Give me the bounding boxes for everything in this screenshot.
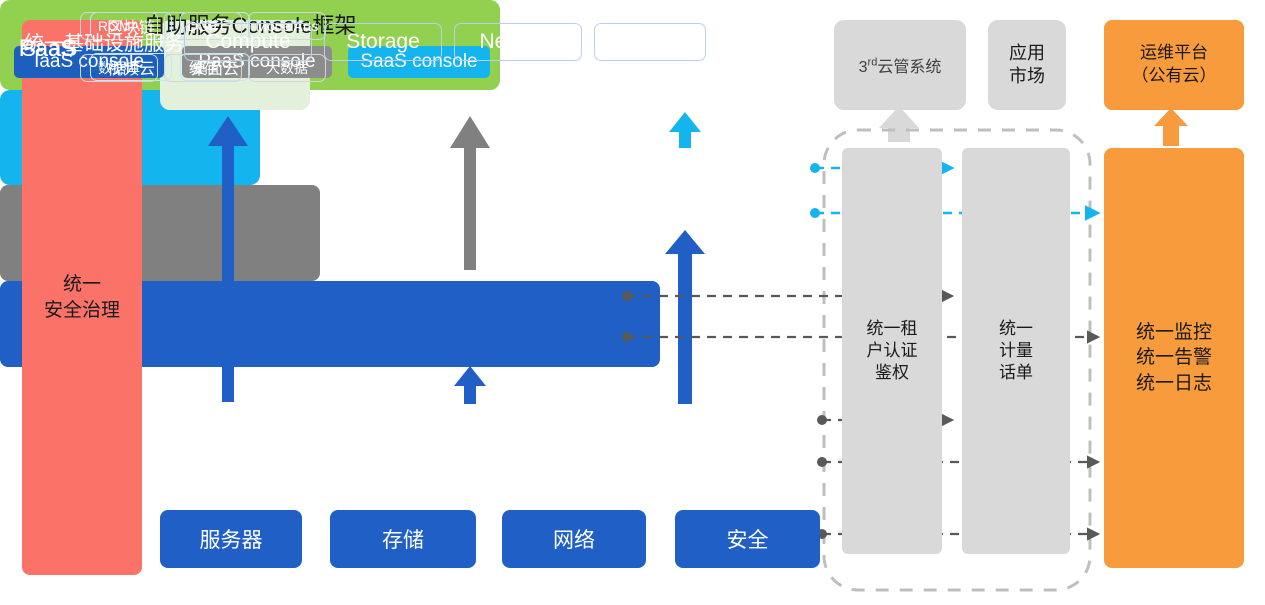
- infra-service-compute[interactable]: Compute: [184, 23, 312, 61]
- arrow-paas-to-console: [450, 116, 490, 270]
- third-party-cloud-mgmt-box: 3rd云管系统: [834, 20, 966, 110]
- infra-service-cce[interactable]: CCE: [594, 23, 706, 61]
- infra-service-storage[interactable]: Storage: [324, 23, 442, 61]
- ops-platform-top-box: 运维平台（公有云）: [1104, 20, 1244, 110]
- app-market-box: 应用市场: [988, 20, 1066, 110]
- arrow-saas-to-saasconsole: [669, 112, 701, 148]
- unified-tenant-auth-column: 统一租户认证鉴权: [842, 148, 942, 554]
- hardware-label-server: 服务器: [200, 524, 263, 554]
- arrow-infra-to-saas: [665, 230, 705, 404]
- hardware-box-storage[interactable]: 存储: [330, 510, 476, 568]
- security-governance-column: 统一安全治理: [22, 20, 142, 575]
- hardware-box-server[interactable]: 服务器: [160, 510, 302, 568]
- unified-ops-label: 统一监控统一告警统一日志: [1136, 320, 1212, 397]
- paas-service-database[interactable]: 数据库: [80, 54, 158, 82]
- third-party-cloud-mgmt-label: 3rd云管系统: [859, 53, 942, 77]
- arrow-infra-to-paas: [454, 366, 486, 404]
- unified-billing-label: 统一计量话单: [999, 318, 1033, 384]
- arrow-infra-to-apigw: [208, 116, 248, 402]
- hardware-label-security: 安全: [727, 524, 769, 554]
- infra-service-network[interactable]: Network: [454, 23, 582, 61]
- hardware-label-network: 网络: [553, 524, 595, 554]
- hardware-label-storage: 存储: [382, 524, 424, 554]
- ops-platform-top-label: 运维平台（公有云）: [1132, 42, 1217, 88]
- arrow-into-third-party-cloud: [879, 106, 919, 142]
- hardware-box-network[interactable]: 网络: [502, 510, 646, 568]
- unified-ops-column: 统一监控统一告警统一日志: [1104, 148, 1244, 568]
- unified-billing-column: 统一计量话单: [962, 148, 1070, 554]
- app-market-label: 应用市场: [1009, 42, 1045, 89]
- infrastructure-layer-label: 统一基础设施服务: [14, 27, 194, 56]
- unified-tenant-auth-label: 统一租户认证鉴权: [867, 318, 918, 384]
- architecture-diagram: 统一安全治理 API网关 自助服务Console框架 IaaS console …: [0, 0, 1265, 605]
- hardware-box-security[interactable]: 安全: [675, 510, 820, 568]
- arrow-into-ops-platform: [1154, 108, 1188, 146]
- security-governance-label: 统一安全治理: [44, 272, 120, 323]
